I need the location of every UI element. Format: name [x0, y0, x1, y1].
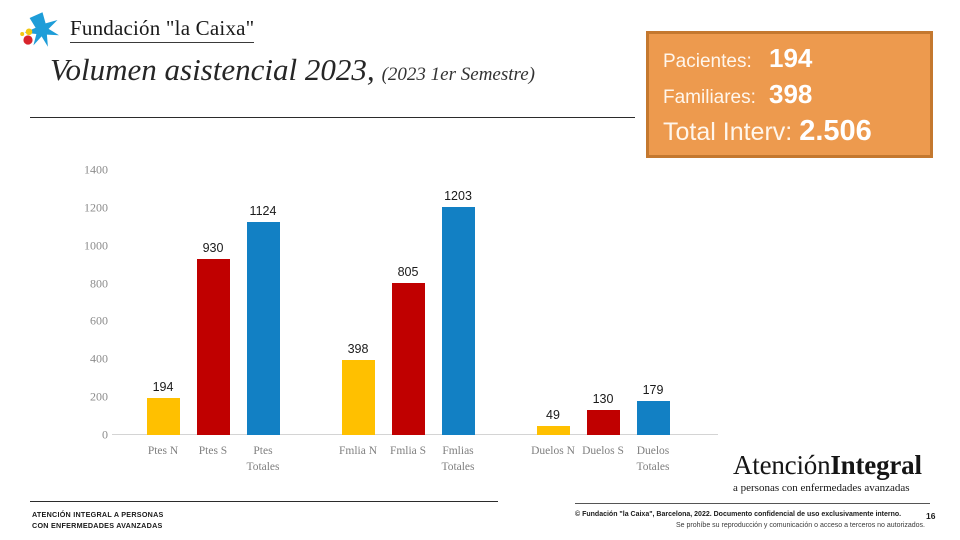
page-title-group: Volumen asistencial 2023, (2023 1er Seme… [50, 54, 535, 85]
atencion-integral-logo: AtenciónIntegral a personas con enfermed… [733, 452, 922, 494]
bar-value-label: 130 [593, 392, 614, 406]
page-title: Volumen asistencial 2023, [50, 54, 375, 85]
atencion-integral-wordmark: AtenciónIntegral [733, 452, 922, 479]
brand-header: Fundación "la Caixa" [18, 10, 254, 50]
footer-copyright: © Fundación "la Caixa", Barcelona, 2022.… [575, 509, 925, 520]
chart-bar: 1203 [442, 207, 475, 435]
la-caixa-star-icon [18, 10, 62, 50]
footer-divider-left [30, 501, 498, 502]
logo-word-integral: Integral [830, 450, 921, 480]
footer-legal: © Fundación "la Caixa", Barcelona, 2022.… [575, 509, 925, 531]
chart-bar: 805 [392, 283, 425, 435]
kpi-row-familiares: Familiares: 398 [663, 79, 930, 110]
x-axis-tick: Duelos Totales [621, 444, 685, 475]
y-axis-tick: 1200 [84, 200, 108, 215]
chart-bar: 49 [537, 426, 570, 435]
chart-bar: 930 [197, 259, 230, 435]
y-axis-tick: 1400 [84, 163, 108, 178]
kpi-value-total-interv: 2.506 [799, 115, 872, 148]
bar-chart: 1400120010008006004002000Ptes N194Ptes S… [30, 162, 730, 474]
y-axis-tick: 800 [90, 276, 108, 291]
chart-bar: 194 [147, 398, 180, 435]
bar-value-label: 1203 [444, 189, 472, 203]
chart-bar: 398 [342, 360, 375, 435]
brand-name: Fundación "la Caixa" [70, 17, 254, 42]
bar-value-label: 398 [348, 342, 369, 356]
page-number: 16 [926, 511, 935, 521]
summary-stats-box: Pacientes: 194 Familiares: 398 Total Int… [646, 31, 933, 158]
kpi-value-pacientes: 194 [769, 43, 812, 74]
footer-program-name: ATENCIÓN INTEGRAL A PERSONAS CON ENFERME… [32, 509, 164, 531]
chart-plot-area: 1400120010008006004002000Ptes N194Ptes S… [118, 170, 718, 435]
y-axis-tick: 400 [90, 352, 108, 367]
x-axis-tick: Ptes Totales [231, 444, 295, 475]
kpi-row-total-interv: Total Interv: 2.506 [663, 115, 930, 148]
y-axis-tick: 1000 [84, 238, 108, 253]
bar-value-label: 194 [153, 380, 174, 394]
logo-word-atencion: Atención [733, 450, 830, 480]
chart-bar: 130 [587, 410, 620, 435]
bar-value-label: 930 [203, 241, 224, 255]
page-subtitle: (2023 1er Semestre) [382, 65, 535, 84]
y-axis-tick: 600 [90, 314, 108, 329]
y-axis-tick: 0 [102, 428, 108, 443]
footer-disclaimer: Se prohíbe su reproducción y comunicació… [575, 520, 925, 531]
x-axis-tick: Fmlias Totales [426, 444, 490, 475]
bar-value-label: 805 [398, 265, 419, 279]
bar-value-label: 1124 [250, 204, 277, 218]
bar-value-label: 49 [546, 408, 560, 422]
chart-bar: 1124 [247, 222, 280, 435]
kpi-label-familiares: Familiares: [663, 87, 769, 109]
chart-bar: 179 [637, 401, 670, 435]
footer-divider-right [575, 503, 930, 504]
kpi-row-pacientes: Pacientes: 194 [663, 43, 930, 74]
title-divider [30, 117, 635, 118]
atencion-integral-tagline: a personas con enfermedades avanzadas [733, 482, 922, 494]
bar-value-label: 179 [643, 383, 664, 397]
slide-canvas: Fundación "la Caixa" Volumen asistencial… [0, 0, 960, 540]
kpi-label-pacientes: Pacientes: [663, 51, 769, 73]
kpi-label-total-interv: Total Interv: [663, 118, 792, 147]
y-axis-tick: 200 [90, 390, 108, 405]
kpi-value-familiares: 398 [769, 79, 812, 110]
